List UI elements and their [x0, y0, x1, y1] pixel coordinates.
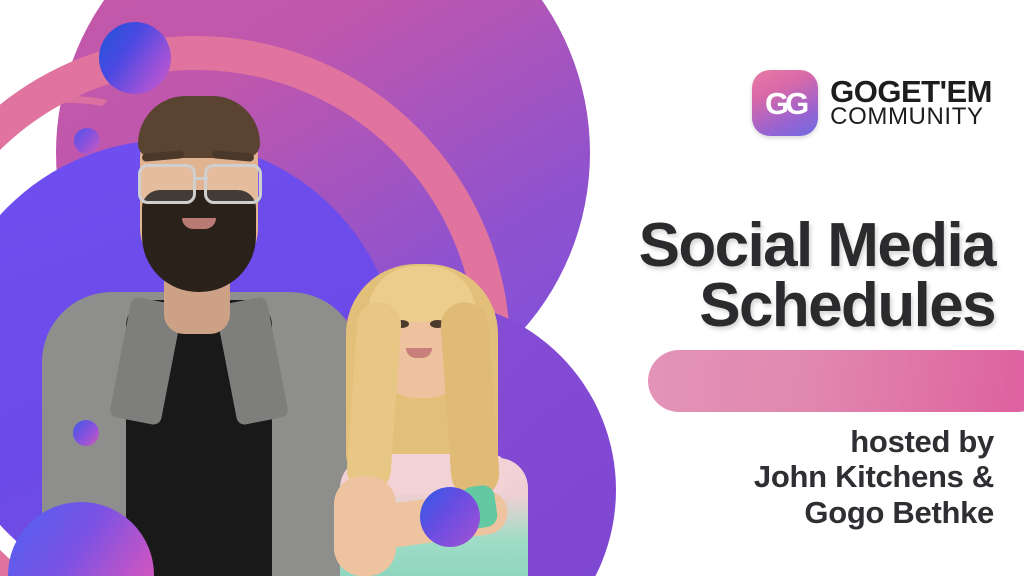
brand-name: GOGET'EM: [830, 77, 992, 106]
gradient-dot-lapel: [73, 420, 99, 446]
eyeglass-lens-right: [204, 164, 262, 204]
hosted-by-label: hosted by: [474, 424, 994, 459]
eyeglass-bridge: [194, 177, 208, 180]
promo-banner: GG GOGET'EM COMMUNITY Social Media Sched…: [0, 0, 1024, 576]
man-eyeglasses: [134, 164, 266, 198]
host-name-line-1: John Kitchens &: [474, 459, 994, 494]
eyeglass-lens-left: [138, 164, 196, 204]
man-hair: [138, 96, 260, 158]
gradient-dot-arm: [420, 487, 480, 547]
brand-subtitle: COMMUNITY: [830, 106, 992, 129]
hosted-by-block: hosted by John Kitchens & Gogo Bethke: [474, 424, 994, 530]
host-names: John Kitchens & Gogo Bethke: [474, 459, 994, 530]
brand-wordmark: GOGET'EM COMMUNITY: [830, 77, 992, 129]
accent-bar: [648, 350, 1024, 412]
logo-mark-text: GG: [765, 88, 805, 119]
page-title: Social Media Schedules: [435, 216, 995, 338]
host-name-line-2: Gogo Bethke: [474, 495, 994, 530]
brand-logo-lockup[interactable]: GG GOGET'EM COMMUNITY: [752, 70, 992, 136]
goget-em-monogram-icon: GG: [752, 70, 818, 136]
man-beard: [142, 190, 256, 292]
title-line-2: Schedules: [435, 276, 995, 337]
title-line-1: Social Media: [435, 216, 995, 277]
